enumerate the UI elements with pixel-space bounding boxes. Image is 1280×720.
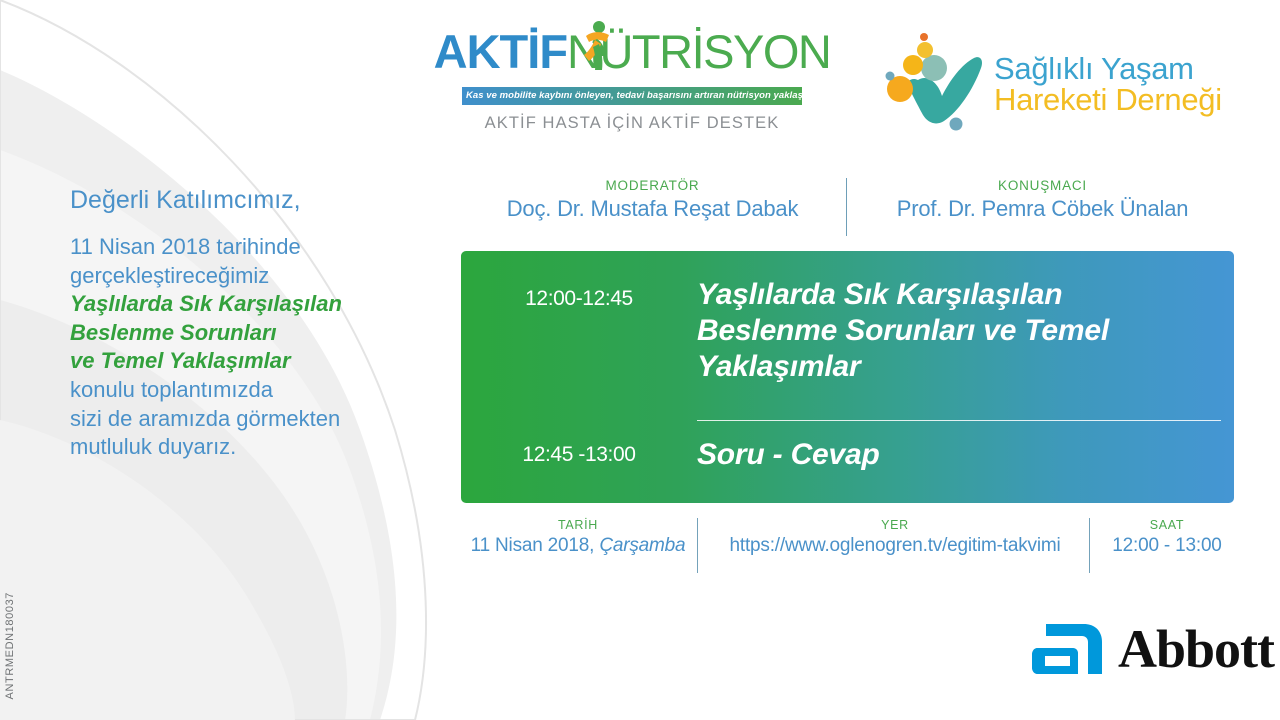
info-date-weekday: Çarşamba xyxy=(599,535,685,556)
abbott-symbol-icon xyxy=(1032,618,1104,680)
abbott-wordmark: Abbott xyxy=(1118,622,1274,676)
moderator-role-label: MODERATÖR xyxy=(460,178,845,193)
saglikli-yasam-logo: Sağlıklı Yaşam Hareketi Derneği xyxy=(880,30,1222,138)
moderator-name: Doç. Dr. Mustafa Reşat Dabak xyxy=(460,196,845,222)
invite-topic-line-3: ve Temel Yaklaşımlar xyxy=(70,348,291,373)
saglikli-wordmark: Sağlıklı Yaşam Hareketi Derneği xyxy=(994,53,1222,115)
abbott-logo: Abbott xyxy=(1032,618,1274,680)
invite-line-4: sizi de aramızda görmekten xyxy=(70,406,340,431)
speaker-block: KONUŞMACI Prof. Dr. Pemra Cöbek Ünalan xyxy=(845,178,1240,222)
invite-greeting: Değerli Katılımcımız, xyxy=(70,185,430,215)
aktif-word-primary: AKTİF xyxy=(434,28,567,75)
program-row-qa: 12:45 -13:00 Soru - Cevap xyxy=(461,437,1234,473)
invite-topic-line-1: Yaşlılarda Sık Karşılaşılan xyxy=(70,291,342,316)
program-row-divider xyxy=(697,420,1221,421)
swoosh-bubbles-icon xyxy=(880,30,988,138)
people-vertical-divider xyxy=(846,178,847,236)
info-place-url[interactable]: https://www.oglenogren.tv/egitim-takvimi xyxy=(696,535,1094,557)
program-panel: 12:00-12:45 Yaşlılarda Sık Karşılaşılan … xyxy=(461,251,1234,503)
program-session-time: 12:00-12:45 xyxy=(461,277,697,311)
saglikli-line-2: Hareketi Derneği xyxy=(994,84,1222,115)
invite-topic-line-2: Beslenme Sorunları xyxy=(70,320,277,345)
program-row-session: 12:00-12:45 Yaşlılarda Sık Karşılaşılan … xyxy=(461,277,1234,385)
info-date-block: TARİH 11 Nisan 2018, Çarşamba xyxy=(460,518,696,557)
aktif-wordmark: AKTİF NÜTRİSYON xyxy=(462,28,802,84)
info-time-value: 12:00 - 13:00 xyxy=(1094,535,1240,557)
speaker-name: Prof. Dr. Pemra Cöbek Ünalan xyxy=(845,196,1240,222)
program-qa-title: Soru - Cevap xyxy=(697,437,904,473)
info-place-label: YER xyxy=(696,518,1094,532)
invite-line-1: 11 Nisan 2018 tarihinde xyxy=(70,234,301,259)
invite-line-3: konulu toplantımızda xyxy=(70,377,273,402)
program-qa-time: 12:45 -13:00 xyxy=(461,443,697,467)
aktif-tagline: Kas ve mobilite kaybını önleyen, tedavi … xyxy=(462,87,802,105)
event-info-bar: TARİH 11 Nisan 2018, Çarşamba YER https:… xyxy=(460,518,1240,557)
moderator-block: MODERATÖR Doç. Dr. Mustafa Reşat Dabak xyxy=(460,178,845,222)
invitation-text-block: Değerli Katılımcımız, 11 Nisan 2018 tari… xyxy=(70,185,430,462)
info-divider-left xyxy=(697,518,698,573)
info-date-label: TARİH xyxy=(460,518,696,532)
info-time-block: SAAT 12:00 - 13:00 xyxy=(1094,518,1240,557)
info-date-value: 11 Nisan 2018, Çarşamba xyxy=(460,535,696,557)
invite-body: 11 Nisan 2018 tarihinde gerçekleştireceğ… xyxy=(70,233,430,462)
program-session-title: Yaşlılarda Sık Karşılaşılan Beslenme Sor… xyxy=(697,277,1234,385)
people-section: MODERATÖR Doç. Dr. Mustafa Reşat Dabak K… xyxy=(460,178,1240,222)
info-place-block: YER https://www.oglenogren.tv/egitim-tak… xyxy=(696,518,1094,557)
invite-line-2: gerçekleştireceğimiz xyxy=(70,263,269,288)
document-code: ANTRMEDN180037 xyxy=(4,592,16,699)
saglikli-line-1: Sağlıklı Yaşam xyxy=(994,53,1222,84)
running-person-icon xyxy=(580,20,614,74)
aktif-nutrisyon-logo: AKTİF NÜTRİSYON Kas ve mobilite kaybını … xyxy=(462,28,802,133)
invitation-poster: ANTRMEDN180037 Değerli Katılımcımız, 11 … xyxy=(0,0,1280,720)
info-date-main: 11 Nisan 2018, xyxy=(471,535,595,556)
speaker-role-label: KONUŞMACI xyxy=(845,178,1240,193)
info-divider-right xyxy=(1089,518,1090,573)
info-time-label: SAAT xyxy=(1094,518,1240,532)
aktif-subline: AKTİF HASTA İÇİN AKTİF DESTEK xyxy=(462,114,802,133)
invite-line-5: mutluluk duyarız. xyxy=(70,434,236,459)
